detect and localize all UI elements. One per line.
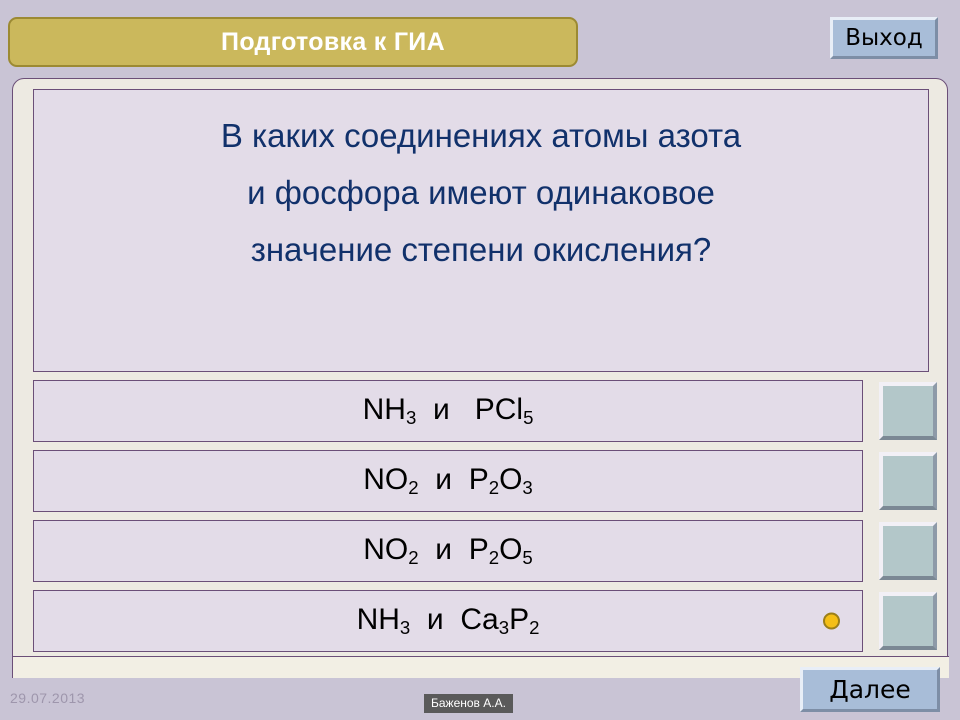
question-line-1: В каких соединениях атомы азота: [221, 108, 741, 165]
question-box: В каких соединениях атомы азота и фосфор…: [33, 89, 929, 372]
question-line-3: значение степени окисления?: [251, 222, 712, 279]
answer-option-3-label: NO2 и P2O5: [363, 533, 533, 569]
title-banner: Подготовка к ГИА: [8, 17, 578, 67]
footer-date: 29.07.2013: [10, 690, 85, 706]
answer-option-4-label: NH3 и Ca3P2: [357, 603, 540, 639]
answer-row-4[interactable]: NH3 и Ca3P2: [33, 590, 929, 652]
answer-option-2[interactable]: NO2 и P2O3: [33, 450, 863, 512]
question-line-2: и фосфора имеют одинаковое: [247, 165, 715, 222]
answer-select-box-2[interactable]: [879, 452, 937, 510]
next-button-label: Далее: [829, 675, 911, 704]
answer-option-1-label: NH3 и PCl5: [363, 393, 534, 429]
answer-row-3[interactable]: NO2 и P2O5: [33, 520, 929, 582]
answer-marker-dot-4: [823, 613, 840, 630]
exit-button-label: Выход: [845, 25, 923, 51]
answer-select-box-3[interactable]: [879, 522, 937, 580]
answer-row-2[interactable]: NO2 и P2O3: [33, 450, 929, 512]
next-button[interactable]: Далее: [800, 667, 940, 712]
page-title: Подготовка к ГИА: [141, 28, 445, 57]
answer-select-box-4[interactable]: [879, 592, 937, 650]
main-panel: В каких соединениях атомы азота и фосфор…: [12, 78, 948, 678]
answer-option-2-label: NO2 и P2O3: [363, 463, 533, 499]
answer-option-3[interactable]: NO2 и P2O5: [33, 520, 863, 582]
exit-button[interactable]: Выход: [830, 17, 938, 59]
answer-option-1[interactable]: NH3 и PCl5: [33, 380, 863, 442]
answer-option-4[interactable]: NH3 и Ca3P2: [33, 590, 863, 652]
answer-select-box-1[interactable]: [879, 382, 937, 440]
author-badge: Баженов А.А.: [424, 694, 513, 713]
answer-row-1[interactable]: NH3 и PCl5: [33, 380, 929, 442]
